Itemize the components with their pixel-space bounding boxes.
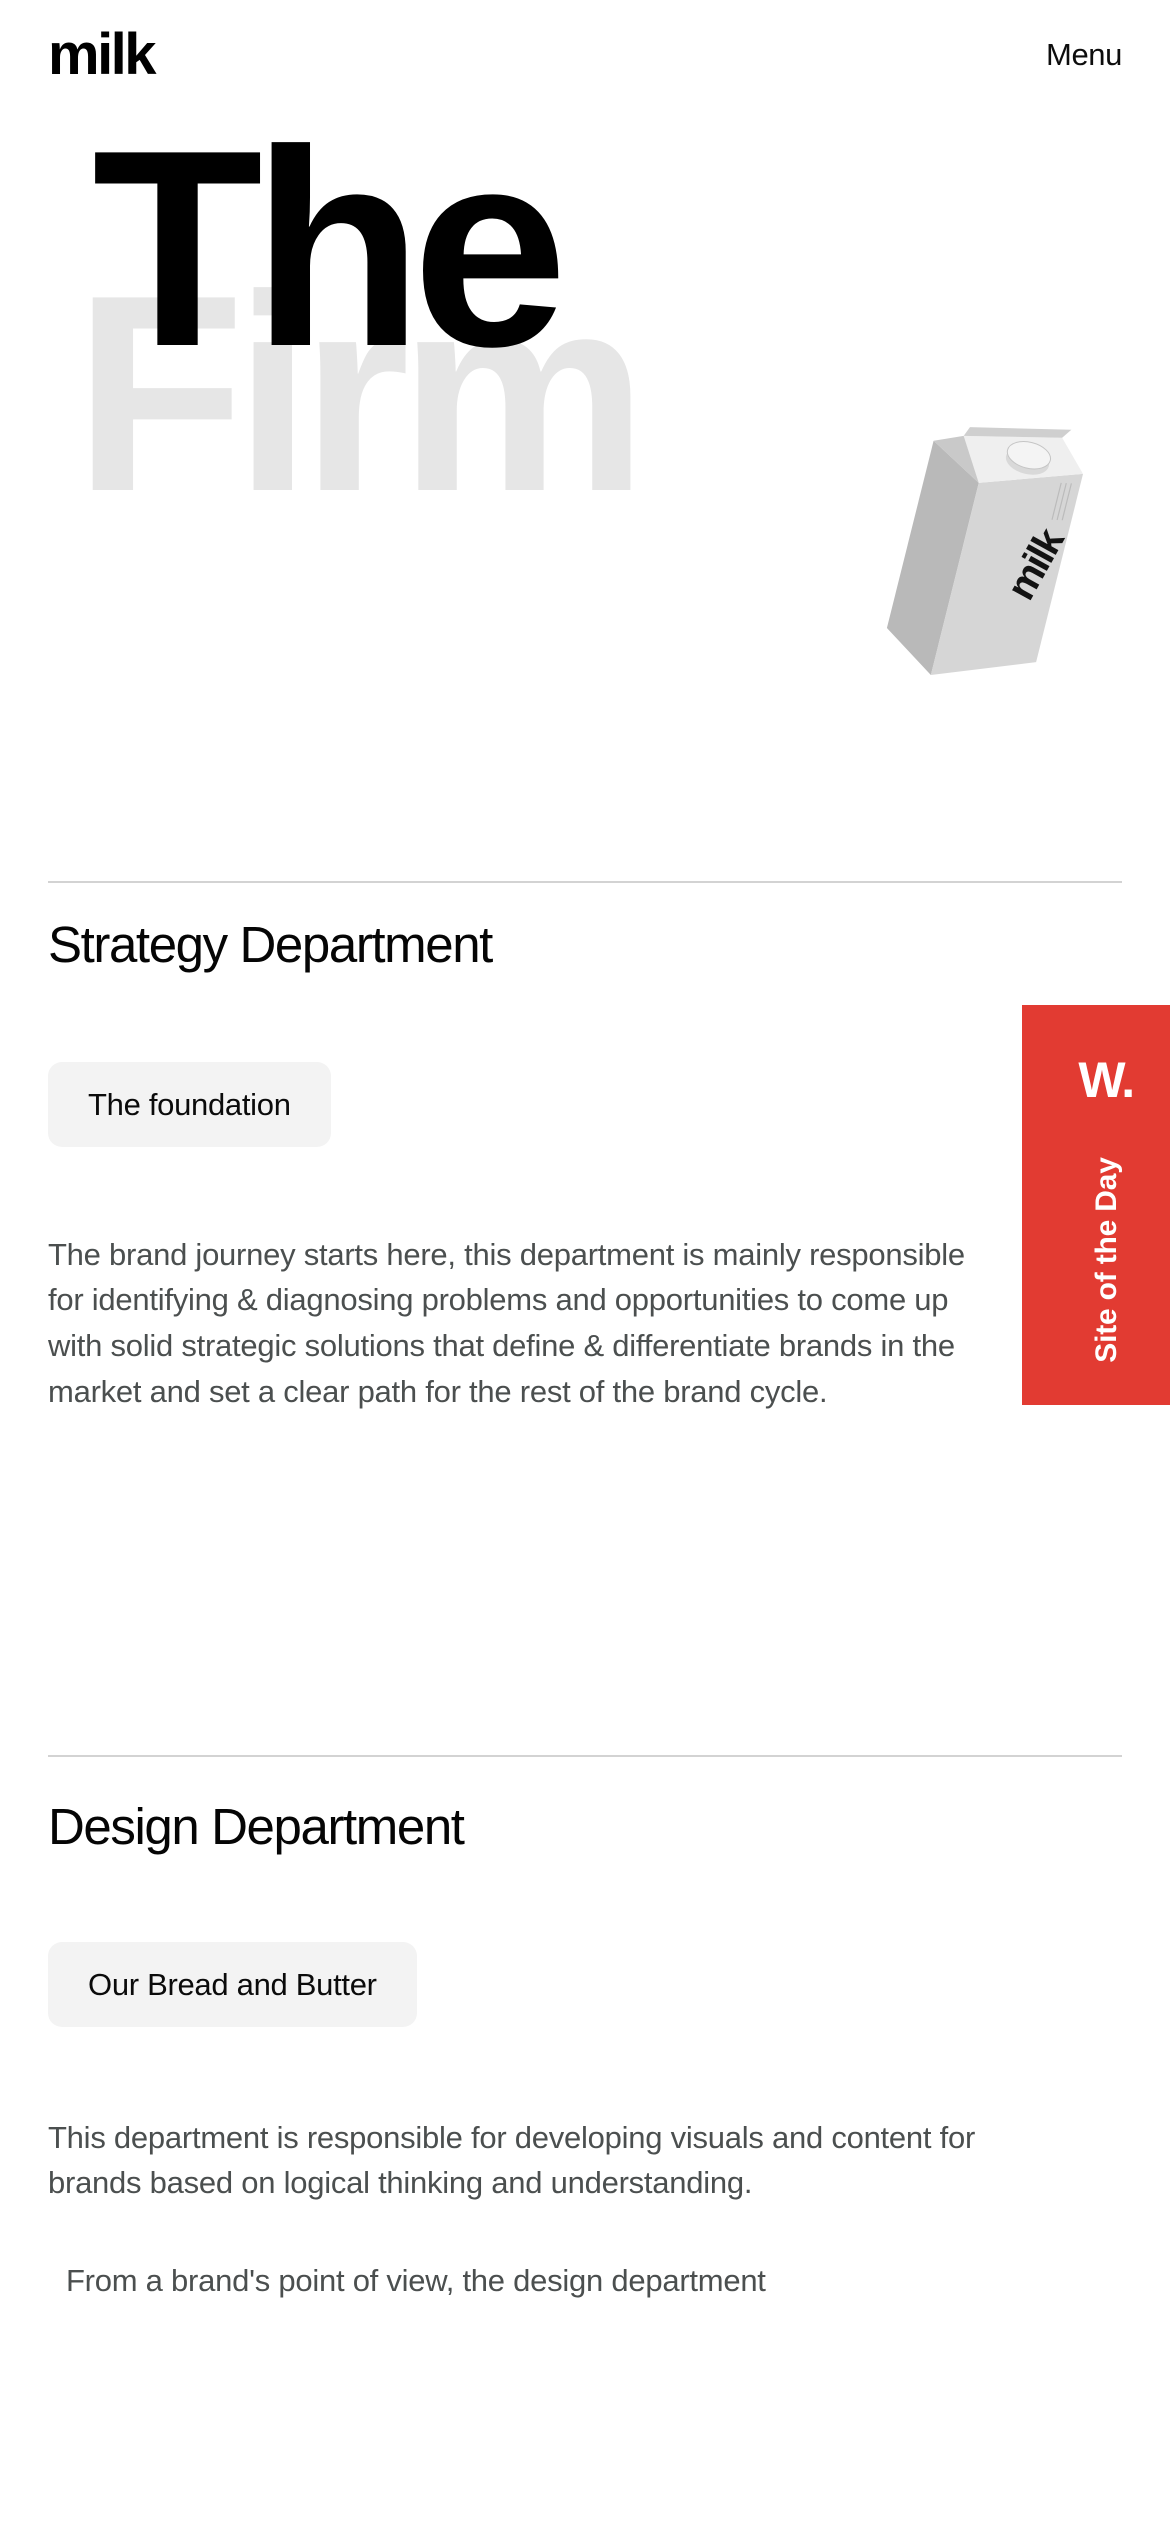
section-design: Design Department Our Bread and Butter T… xyxy=(0,1800,1170,2304)
section-strategy: Strategy Department The foundation The b… xyxy=(0,918,1170,1415)
section-divider xyxy=(48,1755,1122,1757)
awwwards-logo: W. xyxy=(1078,1055,1133,1105)
brand-logo[interactable]: milk xyxy=(48,26,154,84)
page-root: milk Menu Firm The xyxy=(0,0,1170,2532)
section-divider xyxy=(48,881,1122,883)
milk-carton-illustration: milk xyxy=(838,395,1138,695)
hero-section: Firm The xyxy=(0,150,1170,550)
copy-row: From a brand's point of view, the design… xyxy=(0,2258,1170,2304)
hero-word-front: The xyxy=(92,135,557,365)
chip-row: Our Bread and Butter xyxy=(0,1942,1170,2027)
chip-design[interactable]: Our Bread and Butter xyxy=(48,1942,417,2027)
milk-carton-icon: milk xyxy=(838,395,1138,695)
paragraph-design-2: From a brand's point of view, the design… xyxy=(0,2258,1030,2304)
copy-row: The brand journey starts here, this depa… xyxy=(0,1232,1170,1416)
chip-strategy[interactable]: The foundation xyxy=(48,1062,331,1147)
section-title-strategy: Strategy Department xyxy=(0,918,1170,972)
copy-row: This department is responsible for devel… xyxy=(0,2115,1170,2207)
section-title-design: Design Department xyxy=(0,1800,1170,1854)
paragraph-design-1: This department is responsible for devel… xyxy=(0,2115,1030,2207)
paragraph-strategy: The brand journey starts here, this depa… xyxy=(0,1232,1030,1416)
site-of-the-day-badge[interactable]: W. Site of the Day xyxy=(1022,1005,1170,1405)
badge-label: Site of the Day xyxy=(1090,1148,1124,1372)
chip-row: The foundation xyxy=(0,1062,1170,1147)
menu-button[interactable]: Menu xyxy=(1046,37,1122,73)
